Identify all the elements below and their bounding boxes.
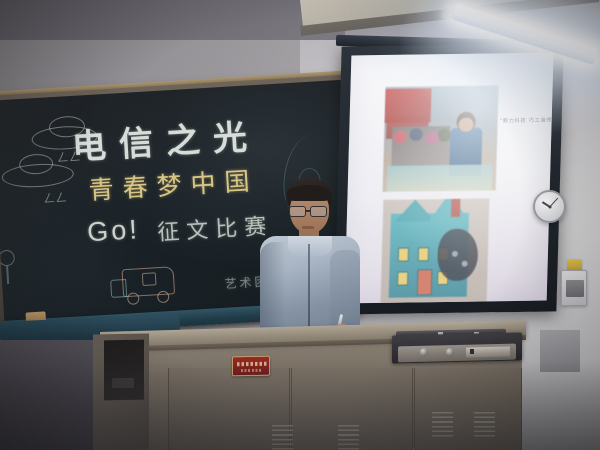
wall-control-panel[interactable]: [561, 270, 587, 306]
chalk-mark: ㄥㄥ: [43, 188, 68, 206]
chalk-lollipop-icon: [0, 250, 15, 267]
wall-panel-face: [566, 280, 584, 297]
presenter-mouth: [302, 226, 314, 229]
presenter-right-arm: [330, 250, 360, 334]
chalk-truck-icon: [122, 266, 176, 297]
photo-house-roof: [429, 198, 470, 221]
wall-clock: [533, 190, 566, 223]
photo-house-window: [397, 271, 408, 285]
projector-screen-frame: "魅力科技 巧工海传" 设计大赛: [334, 44, 564, 315]
chalk-cloud-icon: [19, 153, 54, 175]
av-drive-eject-button[interactable]: [470, 349, 474, 354]
photo-house-window: [398, 248, 409, 262]
chalk-cloud-icon: [31, 124, 98, 151]
chalk-cloud-icon: [1, 162, 74, 189]
chalk-cloud-icon: [48, 115, 85, 138]
slide-title-text: "魅力科技 巧工海传" 设计大赛: [500, 116, 554, 124]
clock-center-pin: [548, 205, 551, 208]
chalk-lollipop-stick: [6, 266, 9, 284]
chalk-truck-wheel: [157, 290, 170, 303]
classroom-scene: ㄥㄥ ㄥㄥ 电信之光 青春梦中国 Go! 征文比赛 艺术团宣: [0, 0, 600, 450]
photo-object-detail: [462, 261, 468, 267]
photo-crowd: [391, 126, 450, 167]
slide-photo-event: [383, 85, 499, 192]
chalk-mark: ㄥㄥ: [56, 148, 81, 166]
lower-shadow-gradient: [0, 360, 600, 450]
presenter-glasses-left-lens: [289, 206, 306, 217]
slide-photo-craft: [380, 198, 489, 303]
chalk-truck-window: [142, 272, 157, 286]
photo-house-door: [417, 269, 433, 295]
blackboard-contest-text: 征文比赛: [156, 208, 274, 247]
photo-object-detail: [452, 251, 458, 257]
blackboard-title-line1: 电信之光: [71, 109, 262, 169]
photo-dark-object: [437, 229, 478, 282]
chalk-truck-cab: [110, 279, 127, 298]
projector-screen: "魅力科技 巧工海传" 设计大赛: [344, 53, 553, 304]
blackboard-title-line2: 青春梦中国: [88, 161, 260, 207]
presenter-glasses-bridge: [306, 210, 311, 212]
photo-house-chimney: [451, 198, 461, 217]
presenter-fringe: [287, 185, 331, 201]
presenter: [258, 178, 362, 338]
photo-house-window: [418, 247, 429, 261]
blackboard-go-text: Go!: [86, 214, 140, 248]
photo-table-display: [387, 164, 493, 191]
chalk-truck-wheel: [127, 292, 140, 305]
presenter-jacket-zipper: [308, 244, 310, 336]
presenter-glasses-right-lens: [310, 206, 327, 217]
